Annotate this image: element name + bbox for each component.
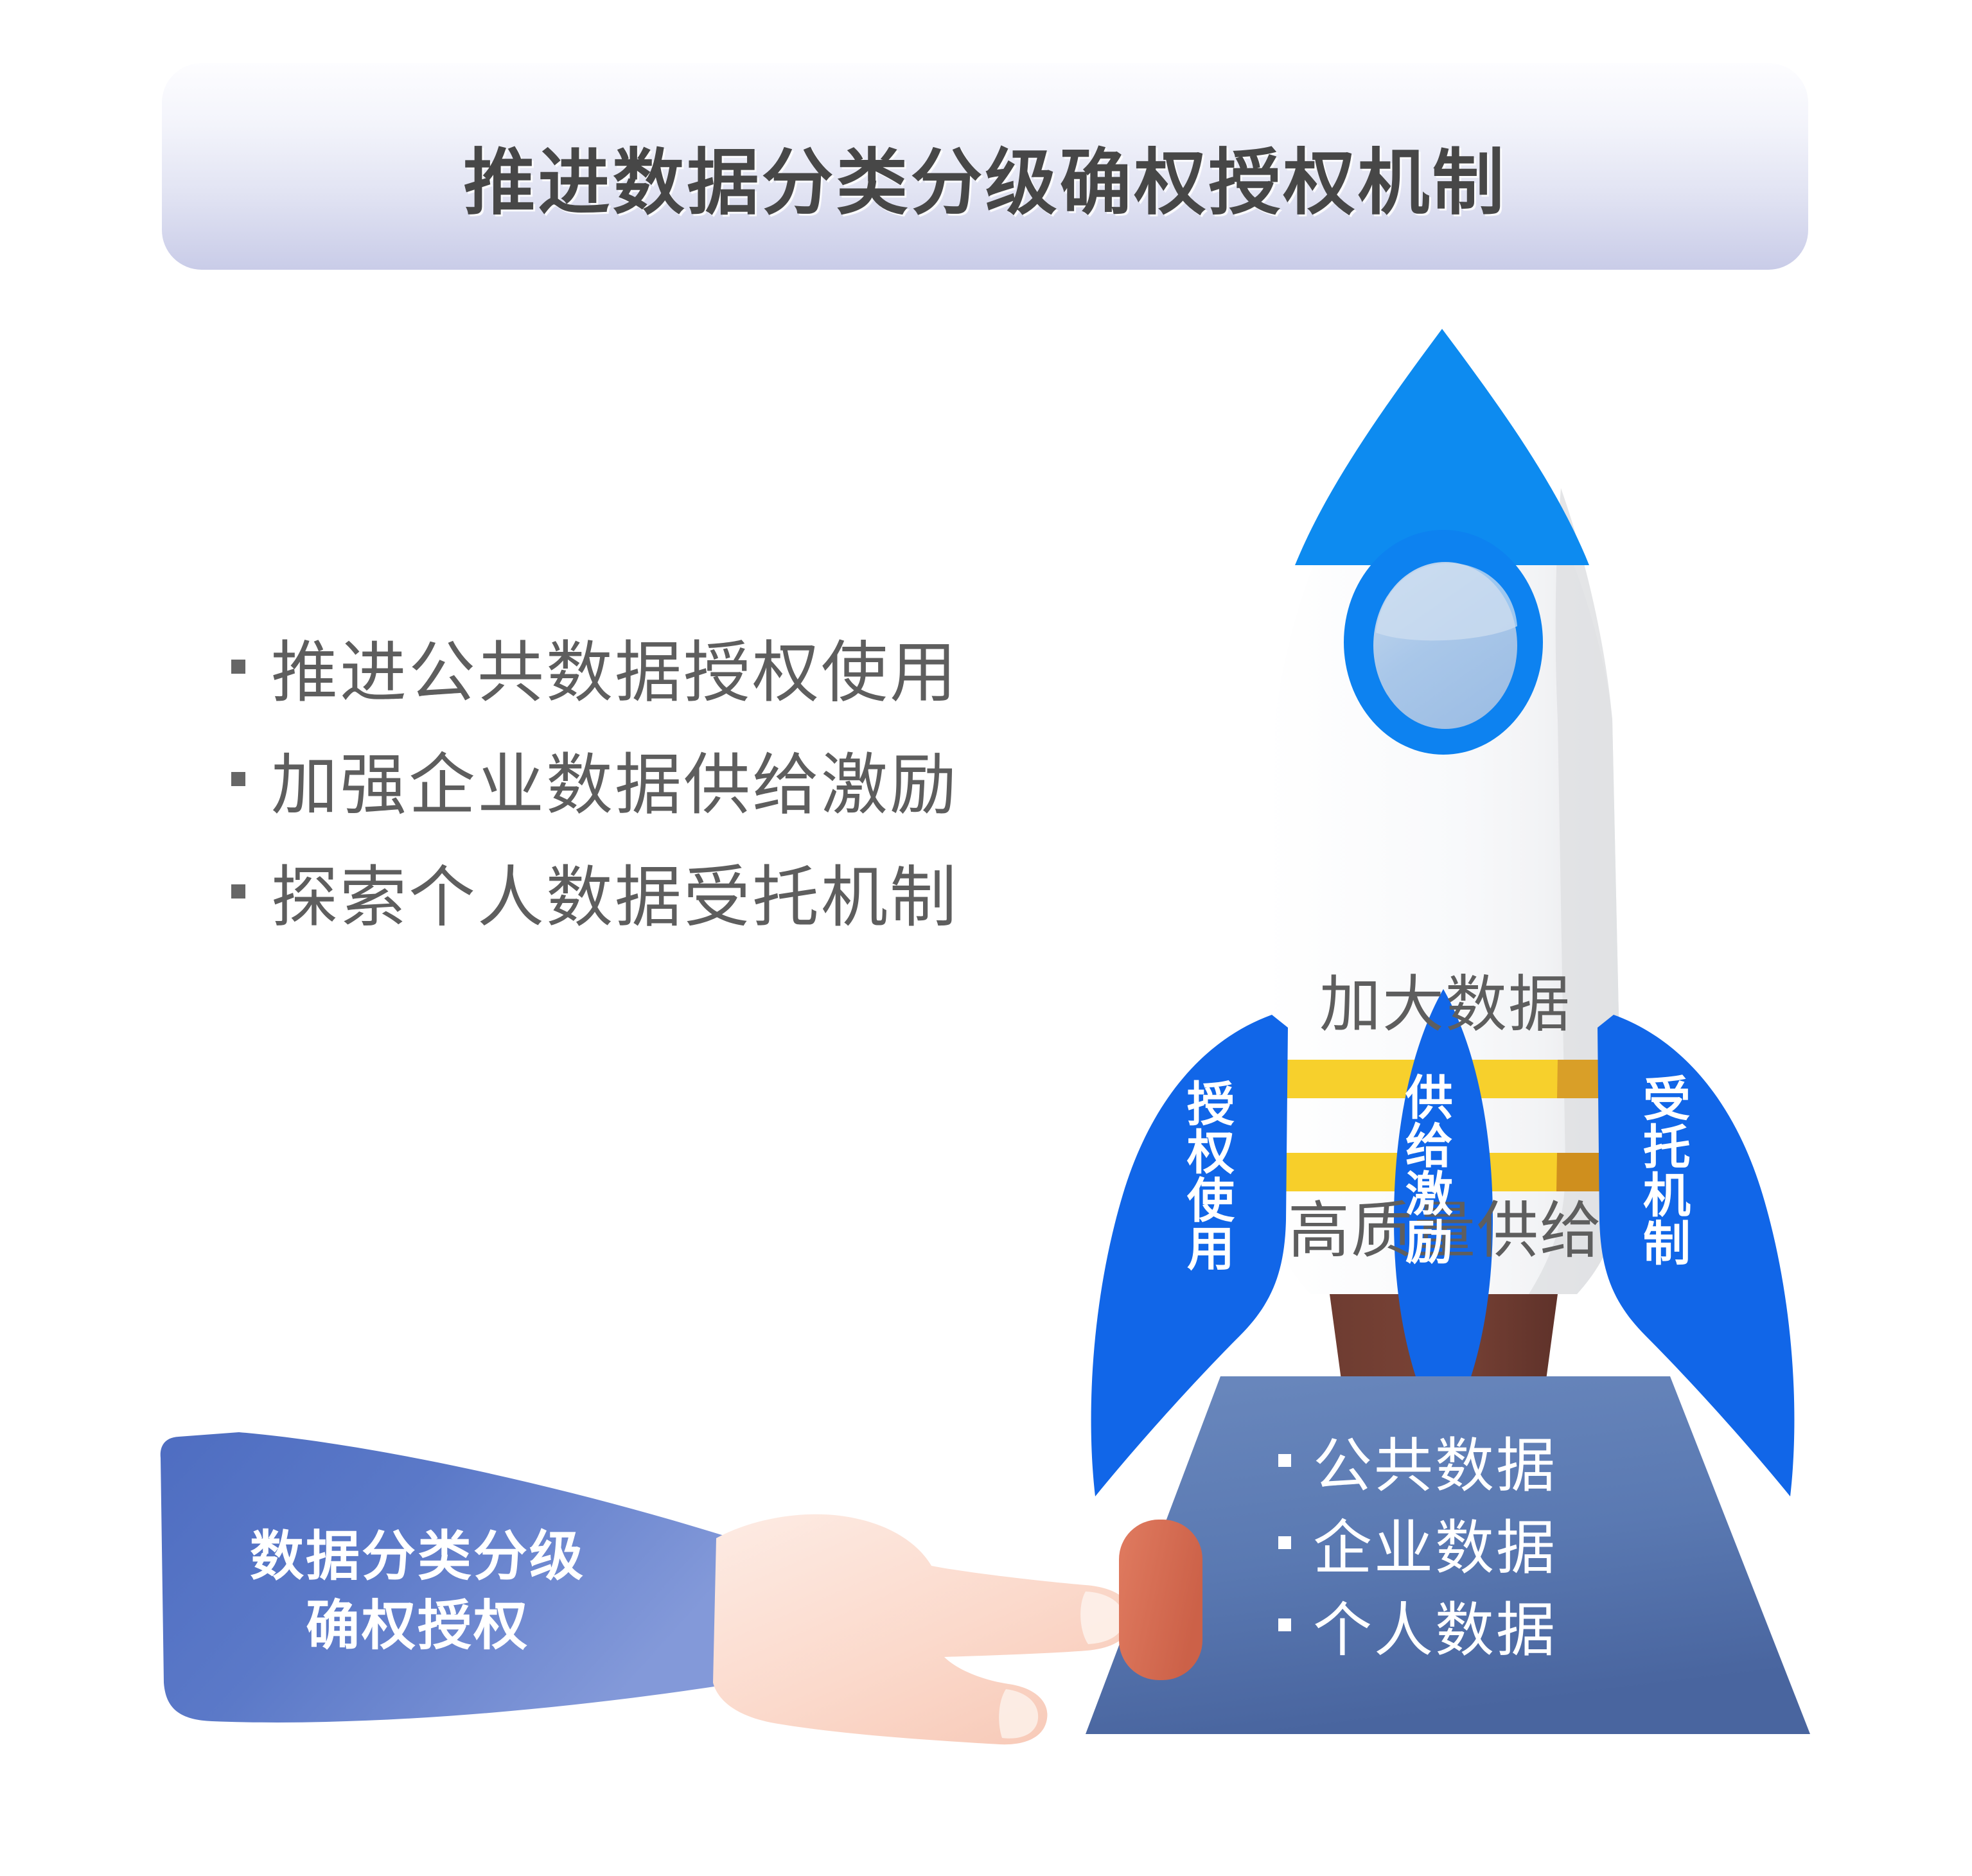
list-item: 推进公共数据授权使用 <box>231 610 1066 723</box>
square-bullet-icon <box>1278 1454 1291 1467</box>
list-item: 公共数据 <box>1278 1419 1728 1502</box>
list-item-label: 加强企业数据供给激励 <box>271 730 958 827</box>
sleeve-label: 数据分类分级 确权授权 <box>161 1522 674 1660</box>
list-item-label: 公共数据 <box>1313 1418 1557 1503</box>
list-item: 探索个人数据受托机制 <box>231 835 1066 947</box>
header-banner: 推进数据分类分级确权授权机制 <box>162 63 1808 270</box>
list-item: 加强企业数据供给激励 <box>231 723 1066 835</box>
square-bullet-icon <box>1278 1618 1291 1631</box>
list-item-label: 探索个人数据受托机制 <box>271 843 958 940</box>
hand-index-nail <box>1080 1591 1124 1644</box>
pointing-hand <box>713 1514 1132 1744</box>
square-bullet-icon <box>231 660 245 674</box>
left-bullet-list: 推进公共数据授权使用 加强企业数据供给激励 探索个人数据受托机制 <box>231 610 1066 947</box>
fin-label-left: 授权使用 <box>1179 1079 1235 1272</box>
square-bullet-icon <box>231 772 245 786</box>
fin-label-right: 受托机制 <box>1635 1074 1691 1267</box>
rocket-body-label-line1: 加大数据 <box>1233 967 1657 1042</box>
sleeve-label-line2: 确权授权 <box>161 1591 674 1661</box>
rocket-window-ring <box>1344 530 1543 755</box>
infographic-canvas: 推进数据分类分级确权授权机制 <box>0 0 1972 1876</box>
list-item-label: 企业数据 <box>1313 1500 1557 1586</box>
red-launch-button[interactable] <box>1119 1520 1202 1680</box>
hand-thumb-nail <box>999 1689 1038 1739</box>
fin-label-center: 供给激励 <box>1397 1073 1453 1265</box>
square-bullet-icon <box>1278 1536 1291 1549</box>
square-bullet-icon <box>231 884 245 899</box>
rocket-window-highlight <box>1376 563 1517 640</box>
list-item: 企业数据 <box>1278 1502 1728 1584</box>
rocket-window-glass <box>1373 562 1517 729</box>
list-item-label: 推进公共数据授权使用 <box>271 618 958 715</box>
list-item: 个人数据 <box>1278 1584 1728 1666</box>
sleeve-label-line1: 数据分类分级 <box>161 1522 674 1591</box>
page-title: 推进数据分类分级确权授权机制 <box>162 125 1808 229</box>
list-item-label: 个人数据 <box>1313 1582 1557 1668</box>
platform-list: 公共数据 企业数据 个人数据 <box>1278 1419 1728 1666</box>
rocket-nose-cone <box>1295 329 1589 565</box>
